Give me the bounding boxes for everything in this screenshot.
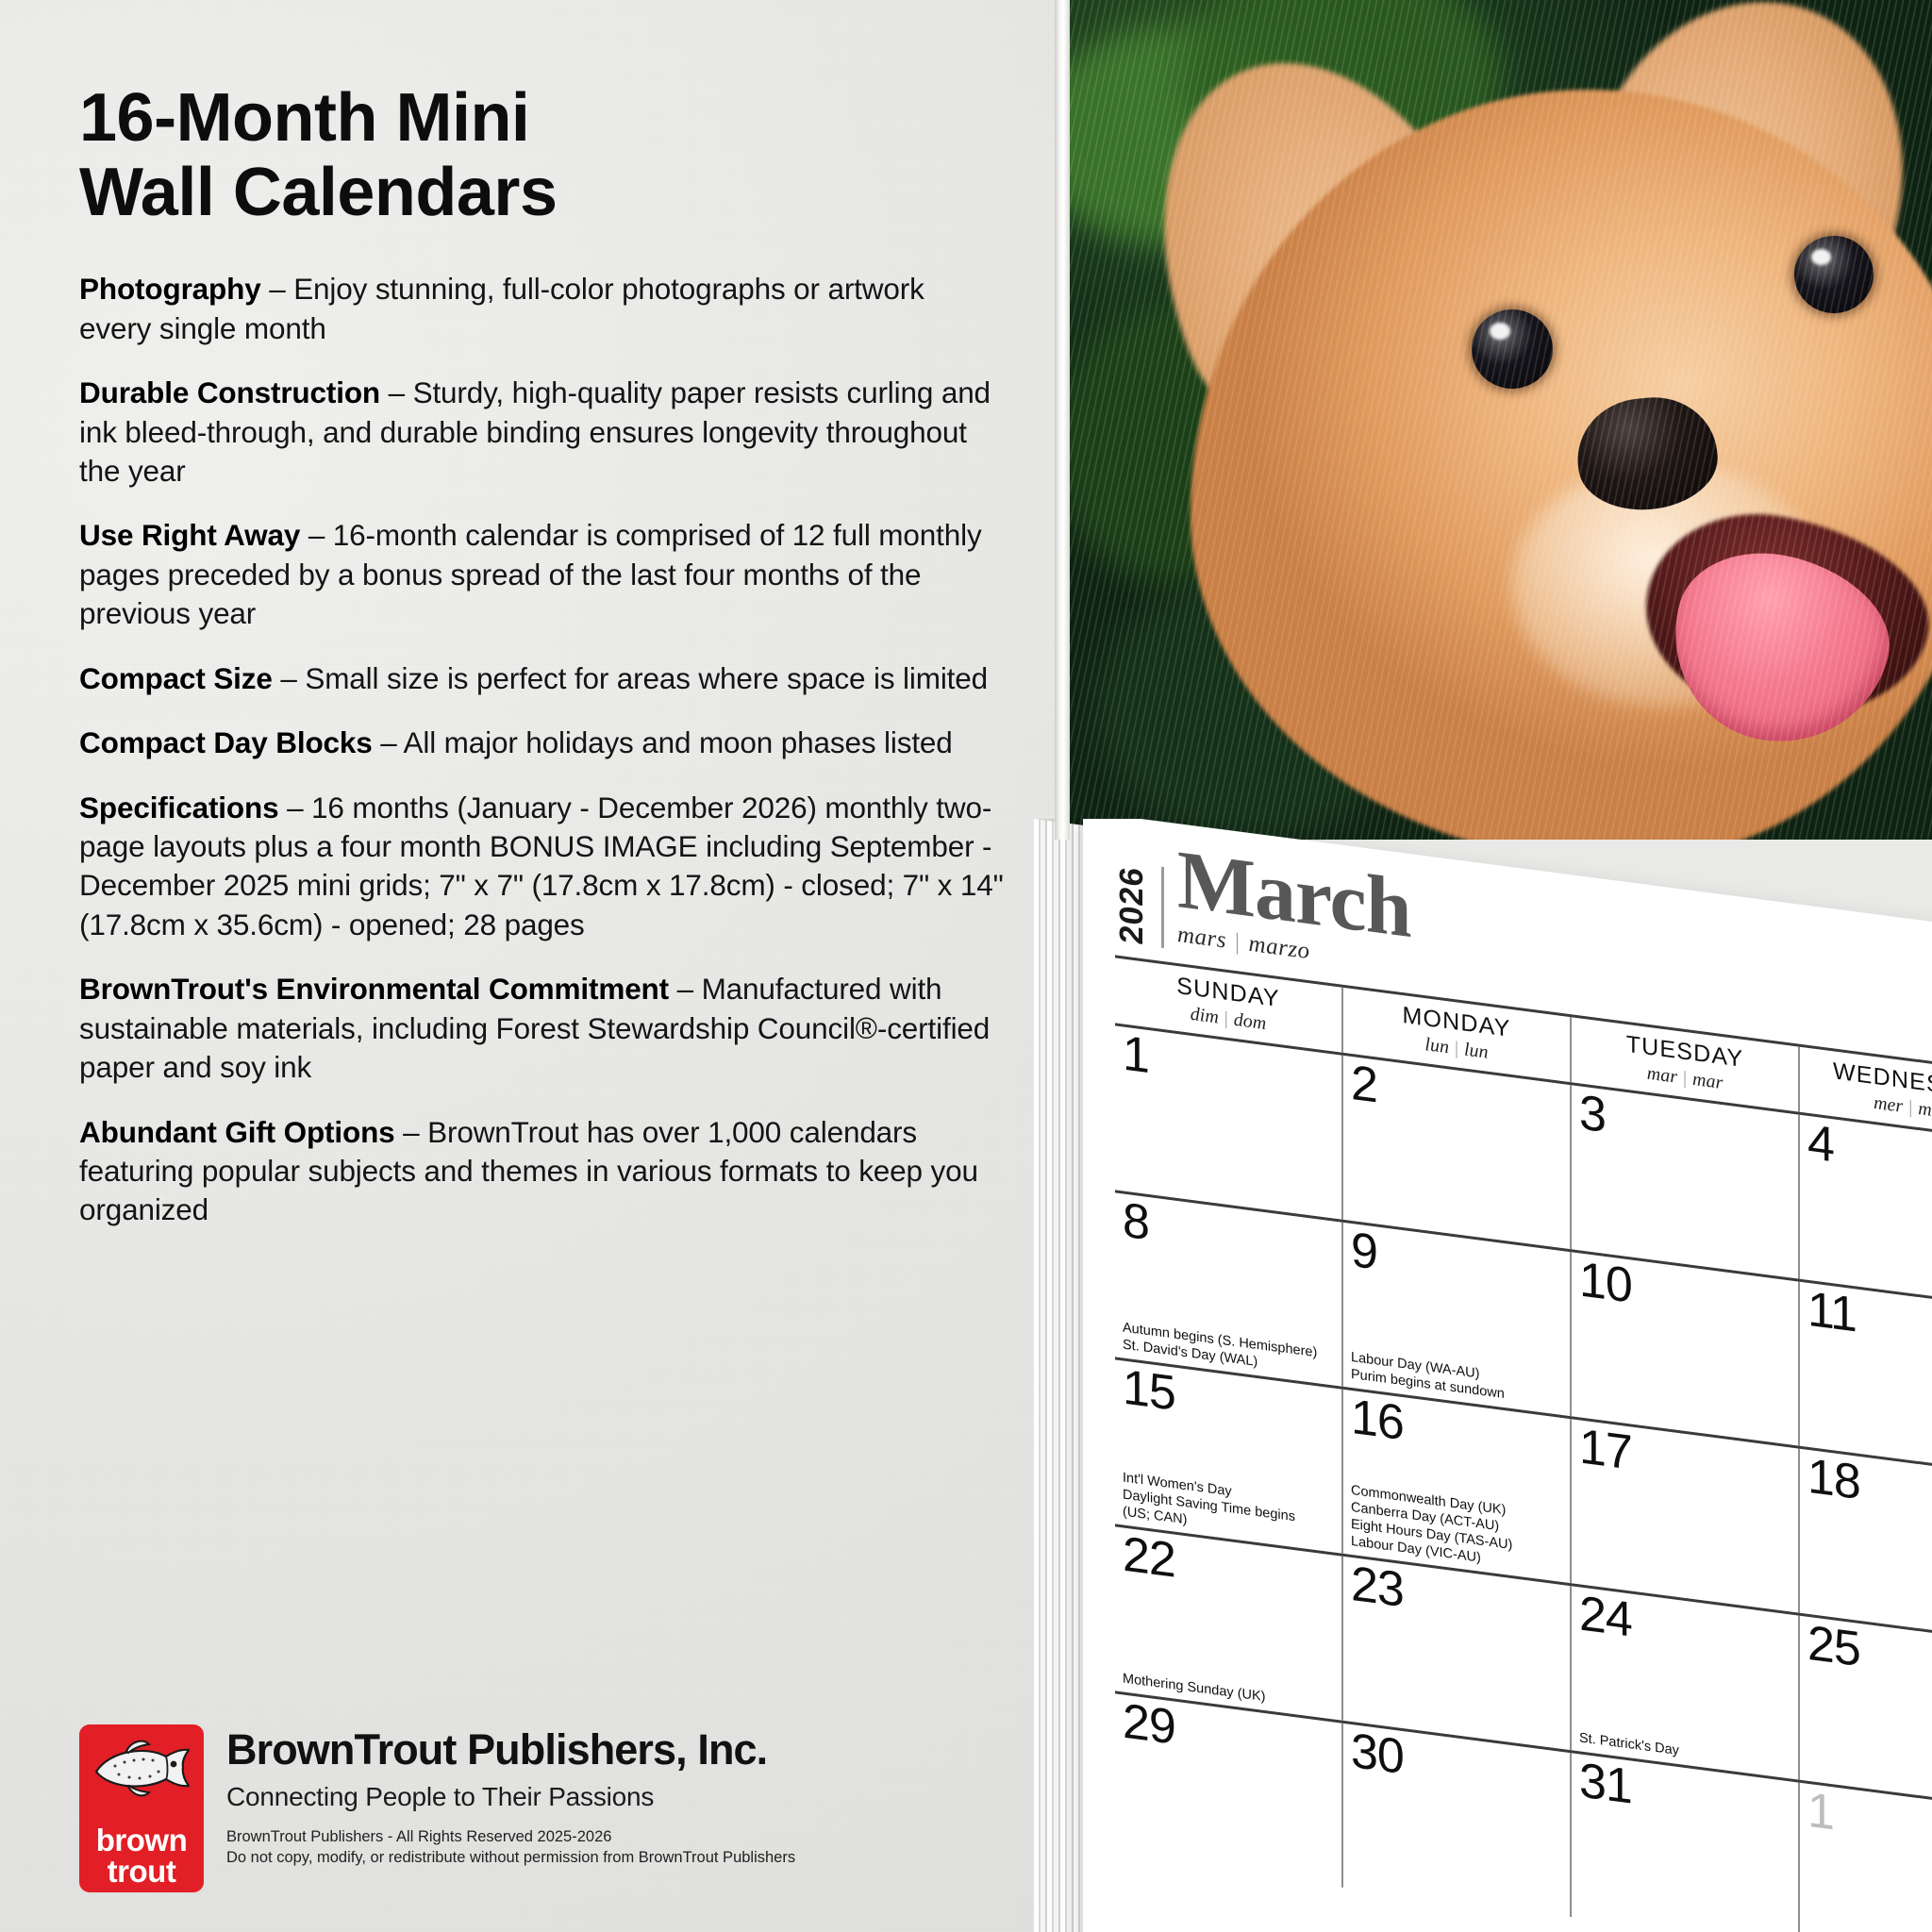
feature-dash: –	[395, 1115, 428, 1149]
day-number: 2	[1351, 1058, 1377, 1111]
pomeranian-photo	[1068, 0, 1932, 840]
page-title-line-1: 16-Month Mini	[79, 81, 1004, 156]
calendar-day-cell[interactable]: 1	[1115, 1025, 1341, 1219]
logo-wordmark: brown trout	[79, 1825, 204, 1887]
feature-item: Compact Size – Small size is perfect for…	[79, 659, 1004, 698]
feature-item: Abundant Gift Options – BrownTrout has o…	[79, 1113, 1004, 1230]
feature-dash: –	[669, 972, 702, 1006]
calendar-day-cell[interactable]: 23	[1341, 1557, 1570, 1750]
locale-separator: |	[1219, 1008, 1234, 1030]
calendar-day-cell[interactable]: 3	[1570, 1085, 1798, 1278]
page-edge	[1055, 0, 1070, 840]
day-number: 24	[1579, 1589, 1632, 1644]
calendar-cover-photo	[1055, 0, 1932, 840]
day-number: 11	[1807, 1285, 1857, 1341]
dog-eye-right-highlight	[1811, 249, 1831, 265]
feature-item: Durable Construction – Sturdy, high-qual…	[79, 374, 1004, 491]
feature-dash: –	[380, 375, 413, 409]
calendar-day-cell[interactable]: 31	[1570, 1753, 1798, 1932]
calendar-day-cell[interactable]: 8Autumn begins (S. Hemisphere)St. David'…	[1115, 1192, 1341, 1386]
day-number: 30	[1351, 1726, 1404, 1782]
feature-item: Compact Day Blocks – All major holidays …	[79, 724, 1004, 762]
feature-label: Durable Construction	[79, 375, 380, 409]
feature-label: Specifications	[79, 791, 278, 824]
feature-dash: –	[278, 791, 311, 824]
legal-notice: BrownTrout Publishers - All Rights Reser…	[226, 1827, 795, 1869]
feature-dash: –	[261, 272, 294, 306]
footer-text: BrownTrout Publishers, Inc. Connecting P…	[226, 1724, 795, 1892]
feature-list: Photography – Enjoy stunning, full-color…	[79, 270, 1004, 1229]
day-number: 29	[1123, 1696, 1175, 1752]
legal-line-1: BrownTrout Publishers - All Rights Reser…	[226, 1828, 611, 1845]
company-tagline: Connecting People to Their Passions	[226, 1782, 795, 1812]
day-number: 16	[1351, 1392, 1404, 1448]
day-number: 22	[1123, 1529, 1175, 1585]
calendar-day-cell[interactable]: 11	[1798, 1281, 1932, 1474]
feature-label: BrownTrout's Environmental Commitment	[79, 972, 669, 1006]
feature-label: Use Right Away	[79, 518, 300, 552]
locale-separator: |	[1677, 1067, 1692, 1090]
feature-text: Compact Size – Small size is perfect for…	[79, 659, 1004, 698]
feature-label: Abundant Gift Options	[79, 1115, 395, 1149]
day-number: 10	[1579, 1255, 1632, 1310]
day-locale-fr: lun	[1424, 1034, 1449, 1058]
company-name: BrownTrout Publishers, Inc.	[226, 1728, 795, 1771]
calendar-preview: 2026 March mars|marzo SUNDAYdim|domMONDA…	[1034, 819, 1932, 1932]
feature-text: Compact Day Blocks – All major holidays …	[79, 724, 1004, 762]
day-number: 1	[1123, 1028, 1149, 1081]
browntrout-logo: brown trout	[79, 1724, 204, 1892]
day-locale-es: mar	[1692, 1069, 1723, 1093]
day-number: 31	[1579, 1756, 1632, 1811]
dog-eye-right	[1794, 236, 1874, 313]
calendar-day-cell[interactable]: 18	[1798, 1448, 1932, 1641]
legal-line-2: Do not copy, modify, or redistribute wit…	[226, 1849, 795, 1866]
day-number: 23	[1351, 1559, 1404, 1615]
calendar-day-cell[interactable]: 22Mothering Sunday (UK)	[1115, 1526, 1341, 1720]
day-number: 25	[1807, 1619, 1860, 1674]
feature-label: Compact Day Blocks	[79, 725, 373, 759]
feature-text: BrownTrout's Environmental Commitment – …	[79, 970, 1004, 1087]
calendar-day-cell[interactable]: 2	[1341, 1056, 1570, 1249]
feature-item: Specifications – 16 months (January - De…	[79, 789, 1004, 945]
day-number: 3	[1579, 1088, 1606, 1141]
calendar-day-cell[interactable]: 4Full Moon11:38 UT	[1798, 1114, 1932, 1307]
calendar-header-divider	[1161, 867, 1164, 948]
calendar-day-cell[interactable]: 1	[1798, 1782, 1932, 1932]
day-number: 8	[1123, 1195, 1149, 1248]
trout-fish-icon	[87, 1732, 196, 1806]
locale-separator: |	[1226, 928, 1249, 957]
product-detail-page: 16-Month Mini Wall Calendars Photography…	[0, 0, 1932, 1932]
day-locale-fr: mer	[1874, 1092, 1903, 1117]
locale-separator: |	[1449, 1037, 1464, 1059]
calendar-day-cell[interactable]: 15Int'l Women's DayDaylight Saving Time …	[1115, 1359, 1341, 1553]
calendar-year: 2026	[1115, 855, 1148, 946]
feature-label: Photography	[79, 272, 261, 306]
feature-description: Small size is perfect for areas where sp…	[305, 661, 988, 695]
feature-label: Compact Size	[79, 661, 273, 695]
logo-word-trout: trout	[79, 1857, 204, 1887]
feature-text: Use Right Away – 16-month calendar is co…	[79, 516, 1004, 633]
day-locale-es: lun	[1464, 1039, 1489, 1062]
feature-item: Photography – Enjoy stunning, full-color…	[79, 270, 1004, 348]
dog-eye-left	[1472, 309, 1553, 389]
footer: brown trout BrownTrout Publishers, Inc. …	[79, 1724, 1004, 1892]
calendar-day-cell[interactable]: 10	[1570, 1252, 1798, 1445]
feature-dash: –	[273, 661, 306, 695]
feature-description: All major holidays and moon phases liste…	[404, 725, 953, 759]
calendar-page: 2026 March mars|marzo SUNDAYdim|domMONDA…	[1083, 819, 1932, 1932]
month-locale-fr: mars	[1177, 922, 1226, 954]
calendar-day-cell[interactable]: 9Labour Day (WA-AU)Purim begins at sundo…	[1341, 1223, 1570, 1416]
day-number: 4	[1807, 1118, 1834, 1171]
info-content: 16-Month Mini Wall Calendars Photography…	[79, 81, 1004, 1256]
calendar-day-cell[interactable]: 17	[1570, 1419, 1798, 1612]
day-locale-es: miér	[1918, 1098, 1932, 1124]
info-panel: 16-Month Mini Wall Calendars Photography…	[0, 0, 1057, 1932]
calendar-day-cell[interactable]: 29	[1115, 1693, 1341, 1887]
day-number: 1	[1807, 1786, 1834, 1839]
calendar-day-cell[interactable]: 30	[1341, 1724, 1570, 1917]
feature-text: Specifications – 16 months (January - De…	[79, 789, 1004, 945]
calendar-day-cell[interactable]: 24St. Patrick's Day	[1570, 1586, 1798, 1779]
day-locale-fr: mar	[1647, 1063, 1677, 1088]
feature-item: Use Right Away – 16-month calendar is co…	[79, 516, 1004, 633]
calendar-day-cell[interactable]: 25	[1798, 1615, 1932, 1808]
dog-eye-left-highlight	[1490, 323, 1510, 340]
day-number: 17	[1579, 1422, 1632, 1477]
day-number: 9	[1351, 1225, 1377, 1278]
calendar-day-cell[interactable]: 16Commonwealth Day (UK)Canberra Day (ACT…	[1341, 1390, 1570, 1583]
feature-text: Abundant Gift Options – BrownTrout has o…	[79, 1113, 1004, 1230]
feature-item: BrownTrout's Environmental Commitment – …	[79, 970, 1004, 1087]
feature-text: Photography – Enjoy stunning, full-color…	[79, 270, 1004, 348]
day-number: 18	[1807, 1452, 1860, 1507]
page-title: 16-Month Mini Wall Calendars	[79, 81, 1004, 230]
day-locale-fr: dim	[1191, 1004, 1219, 1028]
day-number: 15	[1123, 1362, 1175, 1418]
feature-text: Durable Construction – Sturdy, high-qual…	[79, 374, 1004, 491]
calendar-grid: 1234Full Moon11:38 UT8Autumn begins (S. …	[1115, 1023, 1932, 1932]
feature-dash: –	[300, 518, 333, 552]
feature-dash: –	[373, 725, 404, 759]
page-title-line-2: Wall Calendars	[79, 156, 1004, 230]
logo-word-brown: brown	[79, 1825, 204, 1856]
locale-separator: |	[1903, 1096, 1918, 1119]
day-locale-es: dom	[1234, 1009, 1266, 1034]
